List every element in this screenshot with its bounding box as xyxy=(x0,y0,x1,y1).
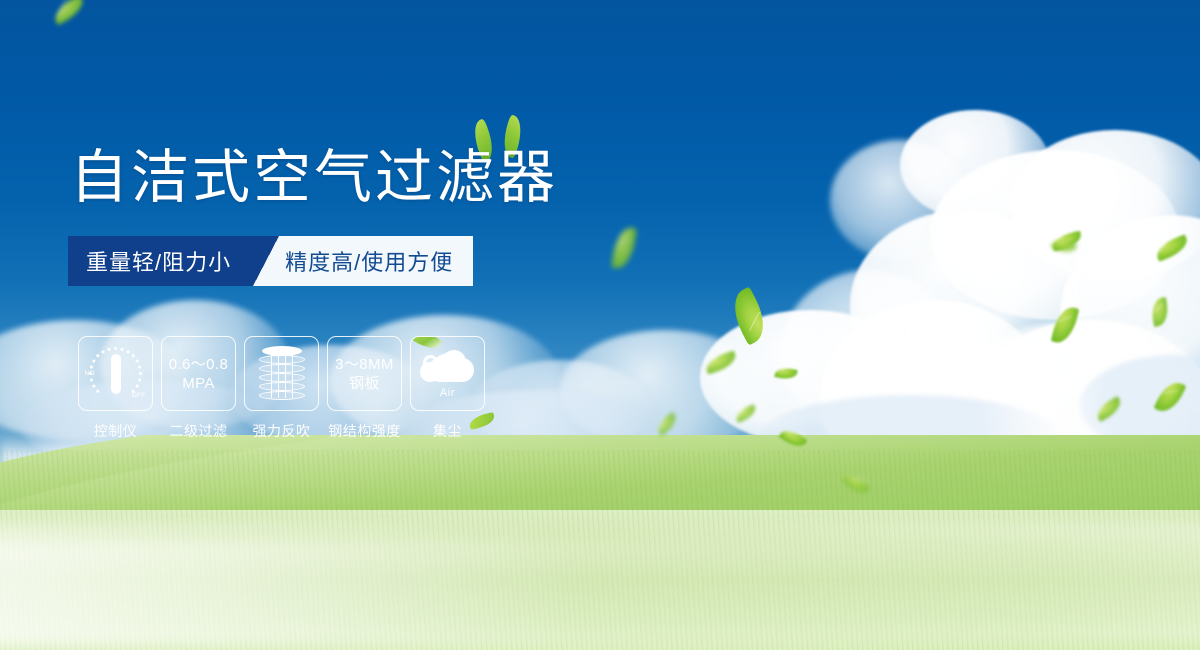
feature-icon-box xyxy=(244,336,319,411)
air-label: Air xyxy=(440,387,455,399)
feature-icon-box: Air xyxy=(410,336,485,411)
feature-icon-box: 0.6～0.8 MPA xyxy=(161,336,236,411)
steel-value-line2: 钢板 xyxy=(349,374,380,393)
feature-label: 钢结构强度 xyxy=(328,421,401,441)
feature-item-blowback[interactable]: 强力反吹 xyxy=(244,336,319,441)
pressure-value-line2: MPA xyxy=(182,374,215,393)
feature-icon-box: NO OFF xyxy=(78,336,153,411)
pressure-value-line1: 0.6～0.8 xyxy=(169,355,229,374)
gauge-off-label: OFF xyxy=(132,392,146,399)
feature-label: 强力反吹 xyxy=(253,421,311,441)
gauge-on-label: NO xyxy=(85,370,95,377)
coil-filter-icon xyxy=(259,346,305,402)
feature-list: NO OFF 控制仪 0.6～0.8 MPA 二级过滤 xyxy=(78,336,485,441)
cloud-air-icon xyxy=(420,350,476,386)
feature-item-dust[interactable]: Air 集尘 xyxy=(410,336,485,441)
feature-label: 集尘 xyxy=(433,421,462,441)
field-sheen xyxy=(0,522,1200,642)
subtitle-bar: 重量轻/阻力小 精度高/使用方便 xyxy=(68,236,473,286)
page-title: 自洁式空气过滤器 xyxy=(70,142,558,214)
gauge-needle xyxy=(111,354,121,394)
feature-label: 二级过滤 xyxy=(170,421,228,441)
feature-item-pressure[interactable]: 0.6～0.8 MPA 二级过滤 xyxy=(161,336,236,441)
feature-label: 控制仪 xyxy=(94,421,138,441)
subtitle-secondary: 精度高/使用方便 xyxy=(279,236,473,286)
banner-stage: 自洁式空气过滤器 重量轻/阻力小 精度高/使用方便 xyxy=(0,0,1200,650)
subtitle-primary: 重量轻/阻力小 xyxy=(68,236,253,286)
feature-item-controller[interactable]: NO OFF 控制仪 xyxy=(78,336,153,441)
subtitle-divider-wedge xyxy=(253,236,279,286)
feature-icon-box: 3～8MM 钢板 xyxy=(327,336,402,411)
feature-item-steel[interactable]: 3～8MM 钢板 钢结构强度 xyxy=(327,336,402,441)
grass-field xyxy=(0,435,1200,650)
steel-value-line1: 3～8MM xyxy=(335,355,394,374)
gauge-icon: NO OFF xyxy=(87,345,145,403)
